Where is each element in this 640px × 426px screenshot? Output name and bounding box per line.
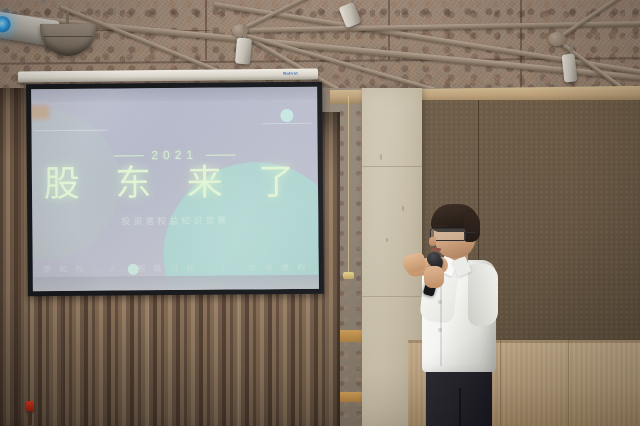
presenter-leg-seam — [459, 388, 461, 426]
presenter-mouth — [431, 248, 441, 251]
slide-footer-item-2: 积 极 行 权 — [137, 263, 198, 275]
projector-mount — [39, 0, 46, 4]
presenter-hand-holding-mic — [424, 266, 444, 288]
presenter-shirt-placket — [440, 274, 442, 366]
slide-footer-label: 积 极 行 权 — [137, 263, 198, 275]
curtain-shading — [0, 88, 30, 426]
presenter-shirt-button — [438, 300, 442, 304]
spotlight-rod — [113, 8, 116, 16]
wainscot-seam — [568, 340, 569, 426]
slide-deco-dot — [280, 109, 293, 122]
spotlight-icon — [235, 37, 252, 64]
slide-footer-bullet-icon — [128, 263, 139, 274]
red-object — [26, 401, 34, 412]
slide-footer-separator: / — [111, 265, 114, 274]
slide-footer-label: 依 法 维 权 — [248, 262, 309, 274]
slide-footer-row: 要 知 权 / 积 极 行 权 / 依 法 维 权 — [43, 262, 309, 275]
ceiling-grout-line — [520, 0, 522, 92]
truss-hub — [548, 32, 566, 46]
slide-deco-orange-blob — [31, 105, 49, 119]
slide-subtitle: 投资者权益知识竞赛 — [32, 213, 318, 228]
slide-top-band — [31, 87, 317, 102]
slide-year-rule-left — [113, 156, 143, 157]
slide-main-title: 股 东 来 了 — [32, 165, 318, 203]
stage-curtain-left — [0, 88, 30, 426]
slide-year-text: 2021 — [151, 148, 198, 162]
photo-scene: Rollret 2021 股 东 来 了 投资者权益知识竞赛 要 知 权 / — [0, 0, 640, 426]
projection-screen: 2021 股 东 来 了 投资者权益知识竞赛 要 知 权 / 积 极 行 权 /… — [31, 87, 319, 291]
cord-tag — [343, 272, 354, 279]
presenter-shirt-button — [438, 328, 442, 332]
presenter-hair-side — [464, 212, 480, 242]
slide-footer-label: 要 知 权 — [43, 264, 87, 275]
pillar-speck — [386, 238, 388, 242]
hanging-cord — [348, 96, 349, 274]
slide-year-row: 2021 — [32, 147, 318, 163]
roller-brand-label: Rollret — [283, 71, 298, 76]
spotlight-icon — [562, 53, 578, 82]
pillar-speck — [380, 154, 382, 160]
slide-bottom-band — [33, 275, 319, 291]
slide-footer-item-3: 依 法 维 权 — [248, 262, 309, 274]
slide-deco-line — [261, 123, 311, 124]
projection-screen-frame: 2021 股 东 来 了 投资者权益知识竞赛 要 知 权 / 积 极 行 权 /… — [26, 82, 324, 297]
slide-year-rule-right — [206, 155, 236, 156]
slide-footer-item-1: 要 知 权 — [43, 264, 87, 275]
presenter-sleeve-right — [468, 264, 498, 326]
presenter — [404, 204, 524, 426]
projector-lens-icon — [0, 15, 12, 33]
slide-footer-separator: / — [221, 264, 224, 273]
presenter-nose — [429, 237, 436, 246]
presenter-eyebrow — [431, 225, 447, 227]
